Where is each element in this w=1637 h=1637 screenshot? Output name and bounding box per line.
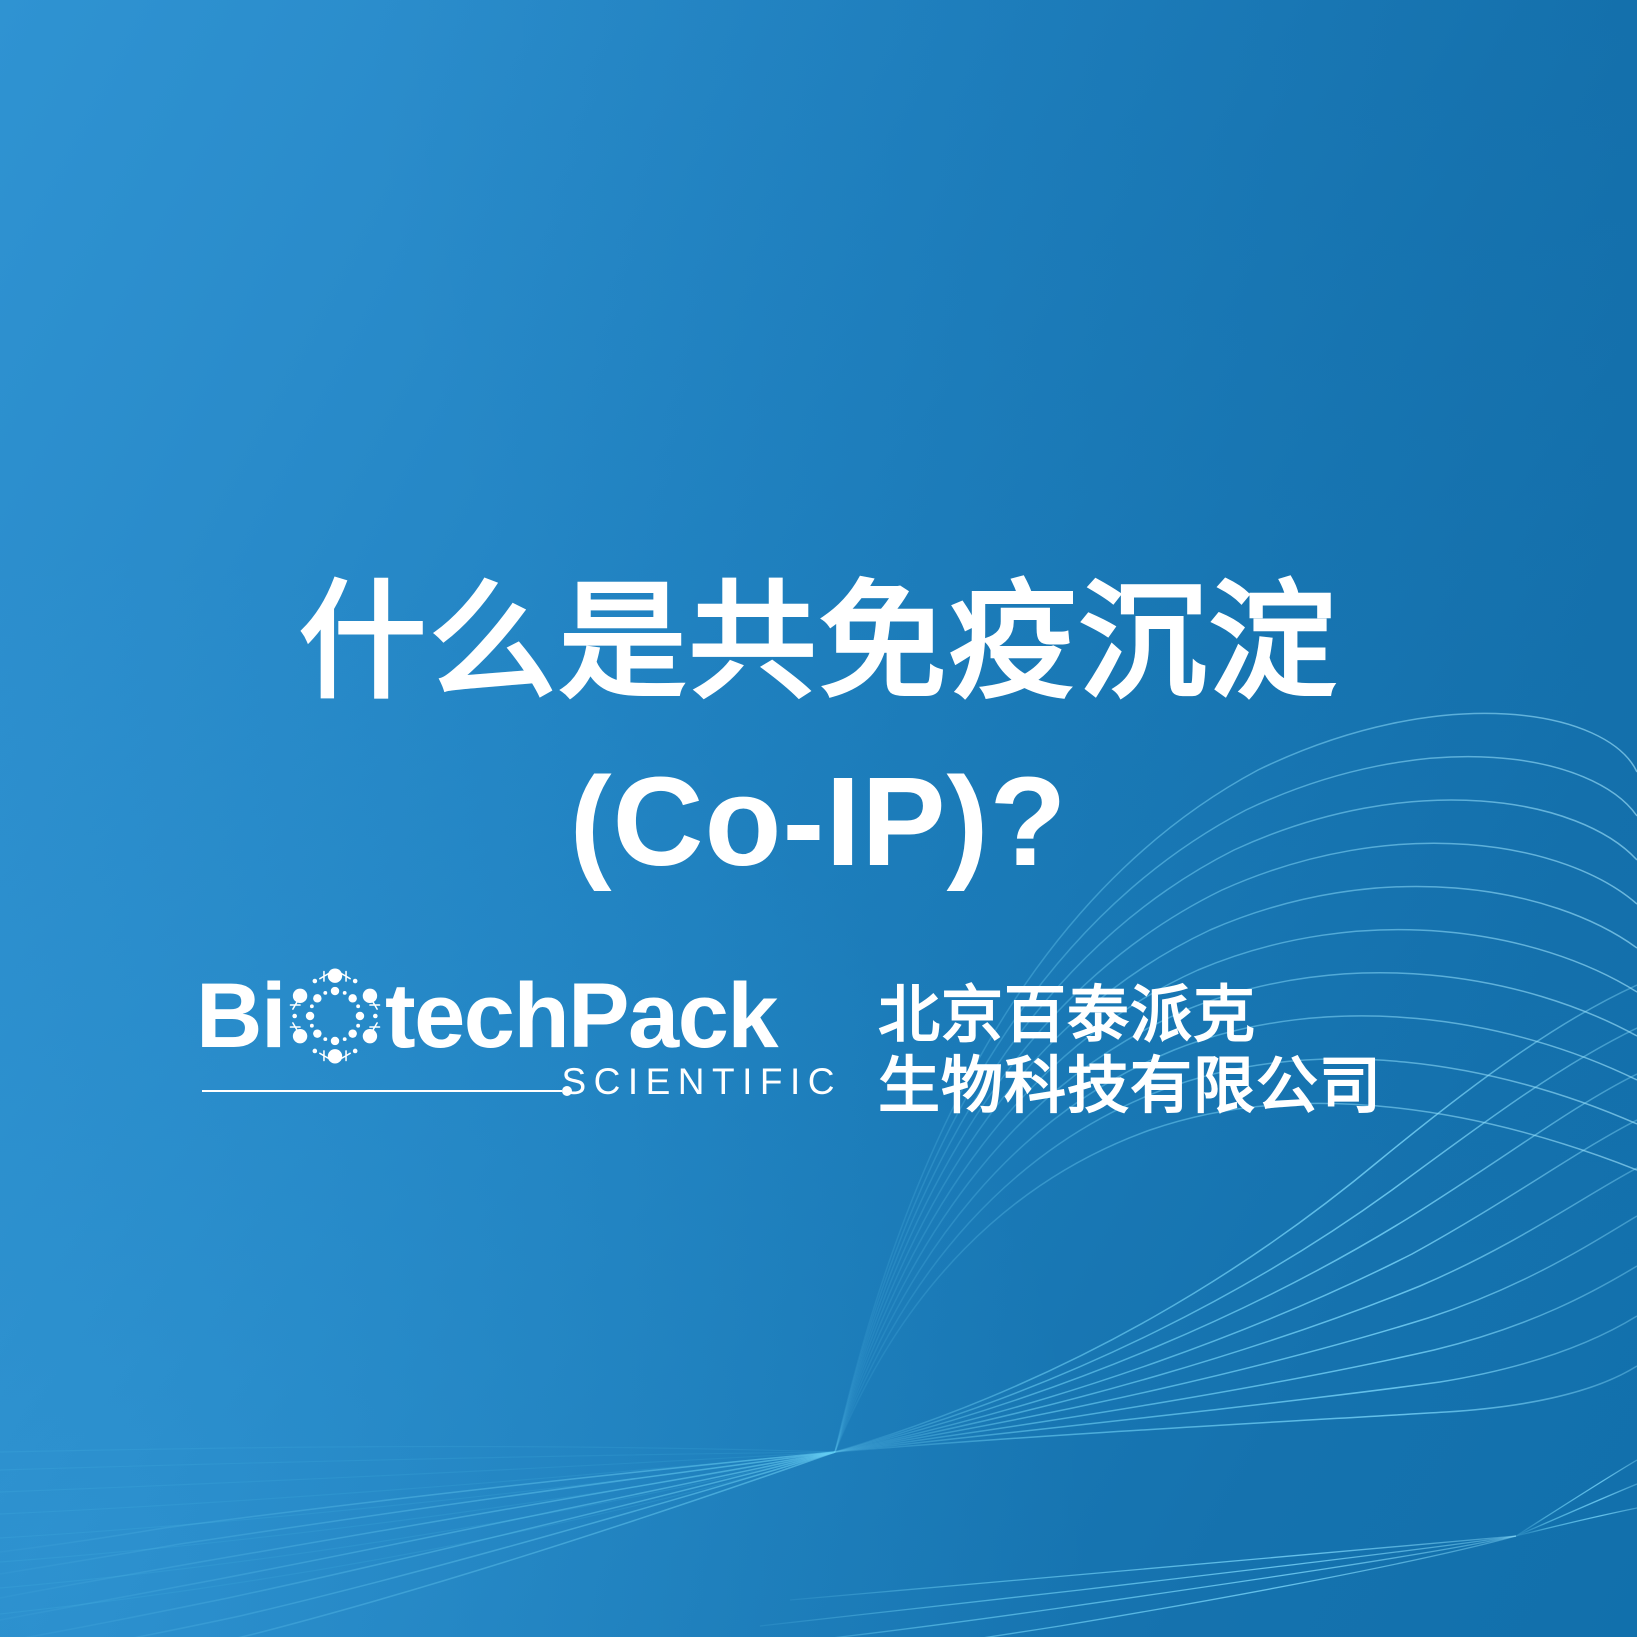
company-name-line-1: 北京百泰派克 bbox=[878, 980, 1382, 1051]
tagline-rule-dot bbox=[562, 1086, 572, 1096]
brand-wordmark: Bi bbox=[196, 968, 844, 1064]
molecule-ring-icon bbox=[287, 968, 383, 1064]
tagline-rule bbox=[202, 1086, 572, 1096]
title-line-2: (Co-IP)? bbox=[0, 740, 1637, 904]
page-title: 什么是共免疫沉淀 (Co-IP)? bbox=[0, 560, 1637, 904]
company-name-line-2: 生物科技有限公司 bbox=[878, 1051, 1382, 1122]
biotechpack-logo: Bi bbox=[196, 968, 844, 1104]
title-line-1: 什么是共免疫沉淀 bbox=[0, 560, 1637, 726]
brand-suffix-text: techPack bbox=[385, 968, 777, 1064]
tagline-rule-line bbox=[202, 1090, 562, 1092]
brand-tagline-row: SCIENTIFIC bbox=[196, 1060, 844, 1104]
brand-tagline-text: SCIENTIFIC bbox=[561, 1060, 844, 1104]
brand-prefix-text: Bi bbox=[196, 968, 285, 1064]
brand-lockup: Bi bbox=[196, 968, 1382, 1122]
company-name-chinese: 北京百泰派克 生物科技有限公司 bbox=[878, 980, 1382, 1122]
poster-canvas: 什么是共免疫沉淀 (Co-IP)? Bi bbox=[0, 0, 1637, 1637]
